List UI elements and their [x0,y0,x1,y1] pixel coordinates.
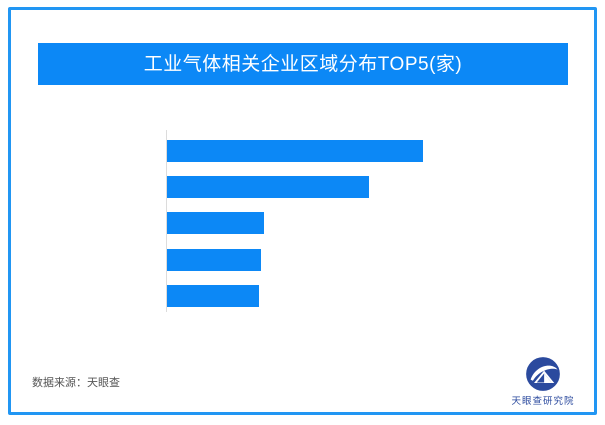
data-source-note: 数据来源：天眼查 [32,374,120,390]
bar-guangdong [167,176,369,198]
brand-logo: 天眼查研究院 [503,356,583,410]
bar-hebei [167,212,264,234]
bar-guizhou [167,249,261,271]
brand-logo-label: 天眼查研究院 [503,393,583,407]
tianyancha-eye-logo-icon [525,356,561,392]
infographic-root: 工业气体相关企业区域分布TOP5(家) 江苏省 广东省 河北省 贵州省 上海市 … [0,0,605,425]
bar-jiangsu [167,140,423,162]
bar-shanghai [167,285,259,307]
